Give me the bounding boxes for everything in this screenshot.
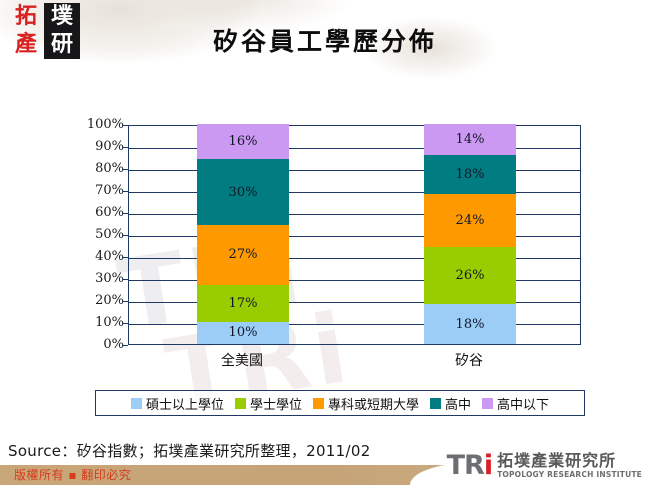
bar-segment-label: 17% <box>229 296 258 311</box>
y-axis-tick-label: 70% <box>54 183 124 198</box>
bar-segment[interactable]: 16% <box>197 124 289 159</box>
y-axis-tick-label: 0% <box>54 337 124 352</box>
y-axis-tick-label: 100% <box>54 117 124 132</box>
legend-swatch <box>430 398 441 409</box>
bar-segment[interactable]: 24% <box>424 194 516 247</box>
y-axis-tick-label: 40% <box>54 249 124 264</box>
legend-label: 碩士以上學位 <box>146 394 224 413</box>
legend-label: 高中以下 <box>497 394 549 413</box>
bar-segment[interactable]: 27% <box>197 225 289 284</box>
copyright-notice: 版權所有 ▪ 翻印必究 <box>14 466 131 483</box>
bar-segment-label: 14% <box>456 132 485 147</box>
y-axis-tick-mark <box>122 345 128 346</box>
y-axis-tick-label: 50% <box>54 227 124 242</box>
bar-segment[interactable]: 26% <box>424 247 516 304</box>
bar-segment[interactable]: 10% <box>197 322 289 344</box>
bar-segment[interactable]: 17% <box>197 285 289 322</box>
bar-segment[interactable]: 30% <box>197 159 289 225</box>
legend-swatch <box>482 398 493 409</box>
y-axis-tick-label: 20% <box>54 293 124 308</box>
bar-segment[interactable]: 14% <box>424 124 516 155</box>
legend-item-5[interactable]: 高中以下 <box>482 394 549 413</box>
legend-label: 專科或短期大學 <box>328 394 419 413</box>
x-axis-tick-label: 全美國 <box>162 350 322 370</box>
bar-segment-label: 24% <box>456 213 485 228</box>
y-axis-tick-label: 90% <box>54 139 124 154</box>
bar-1[interactable]: 16%30%27%17%10% <box>197 124 289 344</box>
legend-swatch <box>235 398 246 409</box>
bar-2[interactable]: 14%18%24%26%18% <box>424 124 516 344</box>
y-axis-tick-label: 30% <box>54 271 124 286</box>
legend-label: 學士學位 <box>250 394 302 413</box>
tri-logo-text: 拓墣產業研究所 TOPOLOGY RESEARCH INSTITUTE <box>497 453 642 479</box>
bar-segment-label: 18% <box>456 167 485 182</box>
legend-item-2[interactable]: 學士學位 <box>235 394 302 413</box>
page-title: 矽谷員工學歷分佈 <box>0 22 650 58</box>
bar-segment-label: 10% <box>229 325 258 340</box>
legend-swatch <box>131 398 142 409</box>
x-axis-tick-label: 矽谷 <box>389 350 549 370</box>
tri-footer-logo: TRi 拓墣產業研究所 TOPOLOGY RESEARCH INSTITUTE <box>447 452 642 479</box>
y-axis-tick-label: 10% <box>54 315 124 330</box>
plot-area: 16%30%27%17%10%14%18%24%26%18% <box>128 125 581 345</box>
bar-segment[interactable]: 18% <box>424 155 516 195</box>
chart-legend: 碩士以上學位學士學位專科或短期大學高中高中以下 <box>95 390 585 416</box>
bar-segment-label: 18% <box>456 317 485 332</box>
y-axis-tick-label: 60% <box>54 205 124 220</box>
bar-segment-label: 16% <box>229 134 258 149</box>
y-axis-tick-label: 80% <box>54 161 124 176</box>
stacked-bar-chart: 100%90%80%70%60%50%40%30%20%10%0% 16%30%… <box>0 112 650 412</box>
bar-segment-label: 26% <box>456 268 485 283</box>
legend-swatch <box>313 398 324 409</box>
background-decoration <box>0 0 650 120</box>
legend-item-4[interactable]: 高中 <box>430 394 471 413</box>
tri-wordmark-tr: TR <box>447 450 484 481</box>
bar-segment-label: 27% <box>229 247 258 262</box>
legend-label: 高中 <box>445 394 471 413</box>
tri-logo-chinese: 拓墣產業研究所 <box>497 453 642 470</box>
bar-segment-label: 30% <box>229 185 258 200</box>
bar-segment[interactable]: 18% <box>424 304 516 344</box>
legend-item-1[interactable]: 碩士以上學位 <box>131 394 224 413</box>
source-note: Source：矽谷指數；拓墣產業研究所整理，2011/02 <box>8 440 371 461</box>
tri-wordmark: TRi <box>447 452 492 479</box>
legend-item-3[interactable]: 專科或短期大學 <box>313 394 419 413</box>
tri-wordmark-i: i <box>484 450 492 481</box>
tri-logo-english: TOPOLOGY RESEARCH INSTITUTE <box>497 471 642 479</box>
